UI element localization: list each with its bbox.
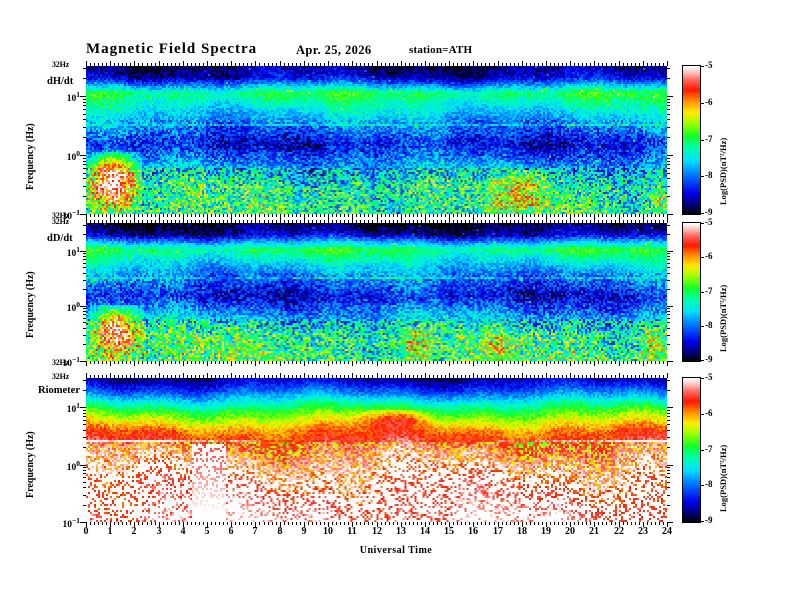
xtick-label-1: 1 [98,526,122,537]
ytick-right-2-0.30000000000000004 [667,495,670,496]
xtick-label-10: 10 [316,526,340,537]
nyquist-label-top-riometer: 32Hz [52,372,69,381]
ytick-right-0-30 [667,68,670,69]
xtick-label-15: 15 [437,526,461,537]
ytick-2-0.4 [83,487,86,488]
ytick-2-8 [83,413,86,414]
ytick-right-0-0.7000000000000001 [667,164,670,165]
ytick-1-1 [80,306,86,307]
ytick-right-1-0.7000000000000001 [667,314,670,315]
ytick-2-20 [83,390,86,391]
ytick-2-1 [80,465,86,466]
xtick-label-23: 23 [631,526,655,537]
ytick-1-5 [83,267,86,268]
ytick-label-0-1: 100 [54,149,80,163]
figure-station: station=ATH [409,44,472,56]
ytick-0-2 [83,137,86,138]
ytick-label-0-0: 101 [54,90,80,104]
ytick-right-2-3 [667,437,670,438]
colorbar-title-dhdt: Log(PSD)(nT²/Hz) [718,138,728,205]
ytick-right-2-2 [667,447,670,448]
ytick-right-1-0.2 [667,344,670,345]
colorbar-tick-label-0--7: -7 [705,134,713,144]
ytick-right-0-6 [667,109,670,110]
xtick-label-22: 22 [607,526,631,537]
xaxis-title: Universal Time [0,545,792,556]
ytick-1-0.5 [83,322,86,323]
ytick-1-0.1 [80,361,86,362]
ytick-label-1-1: 100 [54,300,80,314]
ytick-0-5 [83,114,86,115]
colorbar-tick-1--5 [700,223,704,224]
xtick-label-5: 5 [195,526,219,537]
spectrogram-panel-dddt[interactable] [86,223,667,361]
colorbar-tick-label-0--9: -9 [705,207,713,217]
ytick-1-4 [83,273,86,274]
ytick-right-0-0.2 [667,196,670,197]
colorbar-tick-label-1--6: -6 [705,251,713,261]
colorbar-tick-1--7 [700,292,704,293]
ytick-right-2-0.9 [667,467,670,468]
ytick-right-0-7 [667,105,670,106]
ytick-right-1-5 [667,267,670,268]
ytick-0-0.30000000000000004 [83,186,86,187]
ytick-2-0.7000000000000001 [83,473,86,474]
ytick-1-7 [83,259,86,260]
panel-label-dhdt: dH/dt [47,76,73,87]
ytick-right-0-20 [667,78,670,79]
ytick-2-3 [83,437,86,438]
ytick-1-0.7000000000000001 [83,314,86,315]
ytick-right-2-0.7000000000000001 [667,473,670,474]
ytick-0-1 [80,155,86,156]
ytick-2-6 [83,420,86,421]
ytick-2-0.8 [83,470,86,471]
ytick-right-1-8 [667,256,670,257]
colorbar-frame [682,222,701,362]
colorbar-tick-1--9 [700,360,704,361]
yaxis-title-riometer: Frequency (Hz) [25,431,36,498]
ytick-right-1-30 [667,225,670,226]
ytick-right-0-5 [667,114,670,115]
ytick-right-1-1 [667,306,673,307]
xtick-row-2-top [86,373,667,378]
ytick-2-10 [80,407,86,408]
colorbar-tick-2--6 [700,414,704,415]
ytick-1-30 [83,225,86,226]
xtick-label-13: 13 [389,526,413,537]
colorbar-tick-1--8 [700,326,704,327]
ytick-2-0.2 [83,505,86,506]
ytick-right-0-9 [667,99,670,100]
ytick-right-1-4 [667,273,670,274]
ytick-right-1-6 [667,263,670,264]
ytick-right-2-6 [667,420,670,421]
ytick-right-1-0.4 [667,328,670,329]
ytick-0-0.5 [83,173,86,174]
ytick-1-2 [83,289,86,290]
ytick-1-0.8 [83,311,86,312]
figure-canvas: Magnetic Field Spectra Apr. 25, 2026 sta… [0,0,792,612]
colorbar-tick-0--9 [700,213,704,214]
colorbar-tick-0--6 [700,103,704,104]
ytick-right-2-7 [667,416,670,417]
colorbar-tick-1--6 [700,257,704,258]
ytick-2-4 [83,430,86,431]
ytick-right-0-4 [667,119,670,120]
ytick-0-20 [83,78,86,79]
panel-label-riometer: Riometer [38,385,80,396]
colorbar-tick-label-2--5: -5 [705,372,713,382]
ytick-right-2-0.5 [667,482,670,483]
colorbar-tick-label-2--6: -6 [705,408,713,418]
colorbar-tick-label-0--8: -8 [705,170,713,180]
ytick-right-0-3 [667,127,670,128]
ytick-right-2-0.1 [667,522,673,523]
ytick-right-1-3 [667,280,670,281]
ytick-0-0.4 [83,178,86,179]
spectrogram-image-riometer [86,378,667,522]
xtick-label-6: 6 [219,526,243,537]
ytick-label-1-2: 10−1 [54,355,80,369]
ytick-0-0.2 [83,196,86,197]
ytick-1-8 [83,256,86,257]
ytick-1-3 [83,280,86,281]
colorbar-title-riometer: Log(PSD)(nT²/Hz) [718,445,728,512]
ytick-0-0.6000000000000001 [83,168,86,169]
ytick-2-5 [83,424,86,425]
colorbar-title-dddt: Log(PSD)(nT²/Hz) [718,285,728,352]
ytick-1-0.30000000000000004 [83,335,86,336]
ytick-right-1-7 [667,259,670,260]
ytick-right-1-0.1 [667,361,673,362]
ytick-right-0-0.30000000000000004 [667,186,670,187]
spectrogram-image-dhdt [86,66,667,214]
colorbar-tick-2--8 [700,485,704,486]
colorbar-tick-label-1--5: -5 [705,217,713,227]
xtick-label-8: 8 [268,526,292,537]
ytick-1-10 [80,251,86,252]
ytick-right-0-8 [667,102,670,103]
ytick-0-6 [83,109,86,110]
xtick-label-12: 12 [365,526,389,537]
ytick-right-1-20 [667,234,670,235]
xtick-label-19: 19 [534,526,558,537]
ytick-right-2-9 [667,410,670,411]
ytick-right-2-0.8 [667,470,670,471]
ytick-right-2-4 [667,430,670,431]
colorbar-tick-2--7 [700,450,704,451]
ytick-0-3 [83,127,86,128]
xtick-label-3: 3 [147,526,171,537]
xtick-label-20: 20 [558,526,582,537]
ytick-right-0-0.9 [667,158,670,159]
xtick-label-18: 18 [510,526,534,537]
ytick-0-0.7000000000000001 [83,164,86,165]
colorbar-frame [682,377,701,523]
ytick-right-2-0.6000000000000001 [667,477,670,478]
colorbar-tick-0--7 [700,140,704,141]
ytick-label-2-0: 101 [54,401,80,415]
ytick-2-0.30000000000000004 [83,495,86,496]
colorbar-tick-label-0--6: -6 [705,97,713,107]
ytick-1-0.4 [83,328,86,329]
spectrogram-image-dddt [86,223,667,361]
nyquist-label-top-dhdt: 32Hz [52,60,69,69]
xtick-label-14: 14 [413,526,437,537]
xtick-label-24: 24 [655,526,679,537]
xtick-label-7: 7 [243,526,267,537]
ytick-right-2-1 [667,465,673,466]
ytick-label-2-1: 100 [54,459,80,473]
colorbar-tick-label-2--9: -9 [705,515,713,525]
spectrogram-panel-dhdt[interactable] [86,66,667,214]
spectrogram-panel-riometer[interactable] [86,378,667,522]
ytick-right-0-0.5 [667,173,670,174]
ytick-right-0-1 [667,155,673,156]
ytick-label-1-0: 101 [54,245,80,259]
yaxis-title-dhdt: Frequency (Hz) [25,123,36,190]
ytick-0-0.8 [83,161,86,162]
ytick-1-6 [83,263,86,264]
colorbar-tick-label-2--8: -8 [705,479,713,489]
colorbar-tick-label-0--5: -5 [705,60,713,70]
ytick-right-2-0.2 [667,505,670,506]
ytick-right-1-10 [667,251,673,252]
ytick-right-0-0.1 [667,214,673,215]
colorbar-tick-2--5 [700,378,704,379]
ytick-right-2-10 [667,407,673,408]
xtick-label-17: 17 [486,526,510,537]
colorbar-frame [682,65,701,215]
ytick-right-0-0.4 [667,178,670,179]
ytick-2-0.5 [83,482,86,483]
ytick-right-0-10 [667,96,673,97]
xtick-label-11: 11 [340,526,364,537]
xtick-row-0-top [86,61,667,66]
ytick-right-0-0.8 [667,161,670,162]
ytick-right-2-30 [667,380,670,381]
ytick-2-0.6000000000000001 [83,477,86,478]
ytick-right-1-9 [667,253,670,254]
ytick-label-0-2: 10−1 [54,208,80,222]
ytick-0-7 [83,105,86,106]
ytick-right-2-20 [667,390,670,391]
ytick-2-0.9 [83,467,86,468]
ytick-0-30 [83,68,86,69]
ytick-right-2-5 [667,424,670,425]
ytick-0-0.1 [80,214,86,215]
colorbar-tick-0--8 [700,176,704,177]
ytick-1-0.2 [83,344,86,345]
ytick-2-7 [83,416,86,417]
figure-title: Magnetic Field Spectra [86,41,257,58]
ytick-right-0-2 [667,137,670,138]
ytick-1-0.9 [83,308,86,309]
ytick-0-0.9 [83,158,86,159]
xtick-label-9: 9 [292,526,316,537]
colorbar-tick-label-1--7: -7 [705,286,713,296]
ytick-right-1-0.30000000000000004 [667,335,670,336]
ytick-2-2 [83,447,86,448]
ytick-0-10 [80,96,86,97]
ytick-2-9 [83,410,86,411]
ytick-1-0.6000000000000001 [83,318,86,319]
ytick-right-1-0.8 [667,311,670,312]
ytick-1-20 [83,234,86,235]
xtick-label-4: 4 [171,526,195,537]
xtick-label-21: 21 [582,526,606,537]
ytick-0-4 [83,119,86,120]
xtick-label-2: 2 [122,526,146,537]
colorbar-tick-label-1--8: -8 [705,320,713,330]
panel-label-dddt: dD/dt [47,233,73,244]
ytick-2-0.1 [80,522,86,523]
xtick-label-16: 16 [461,526,485,537]
ytick-right-2-0.4 [667,487,670,488]
colorbar-tick-0--5 [700,66,704,67]
ytick-0-8 [83,102,86,103]
ytick-1-9 [83,253,86,254]
ytick-right-1-0.5 [667,322,670,323]
ytick-right-1-0.6000000000000001 [667,318,670,319]
ytick-0-9 [83,99,86,100]
ytick-right-1-0.9 [667,308,670,309]
colorbar-tick-label-1--9: -9 [705,354,713,364]
yaxis-title-dddt: Frequency (Hz) [25,271,36,338]
ytick-right-2-8 [667,413,670,414]
ytick-right-0-0.6000000000000001 [667,168,670,169]
figure-date: Apr. 25, 2026 [296,43,372,58]
xtick-row-1-top [86,218,667,223]
ytick-right-1-2 [667,289,670,290]
ytick-2-30 [83,380,86,381]
colorbar-tick-label-2--7: -7 [705,444,713,454]
ytick-label-2-2: 10−1 [54,516,80,530]
xtick-row-1-bottom [86,361,667,366]
colorbar-tick-2--9 [700,521,704,522]
